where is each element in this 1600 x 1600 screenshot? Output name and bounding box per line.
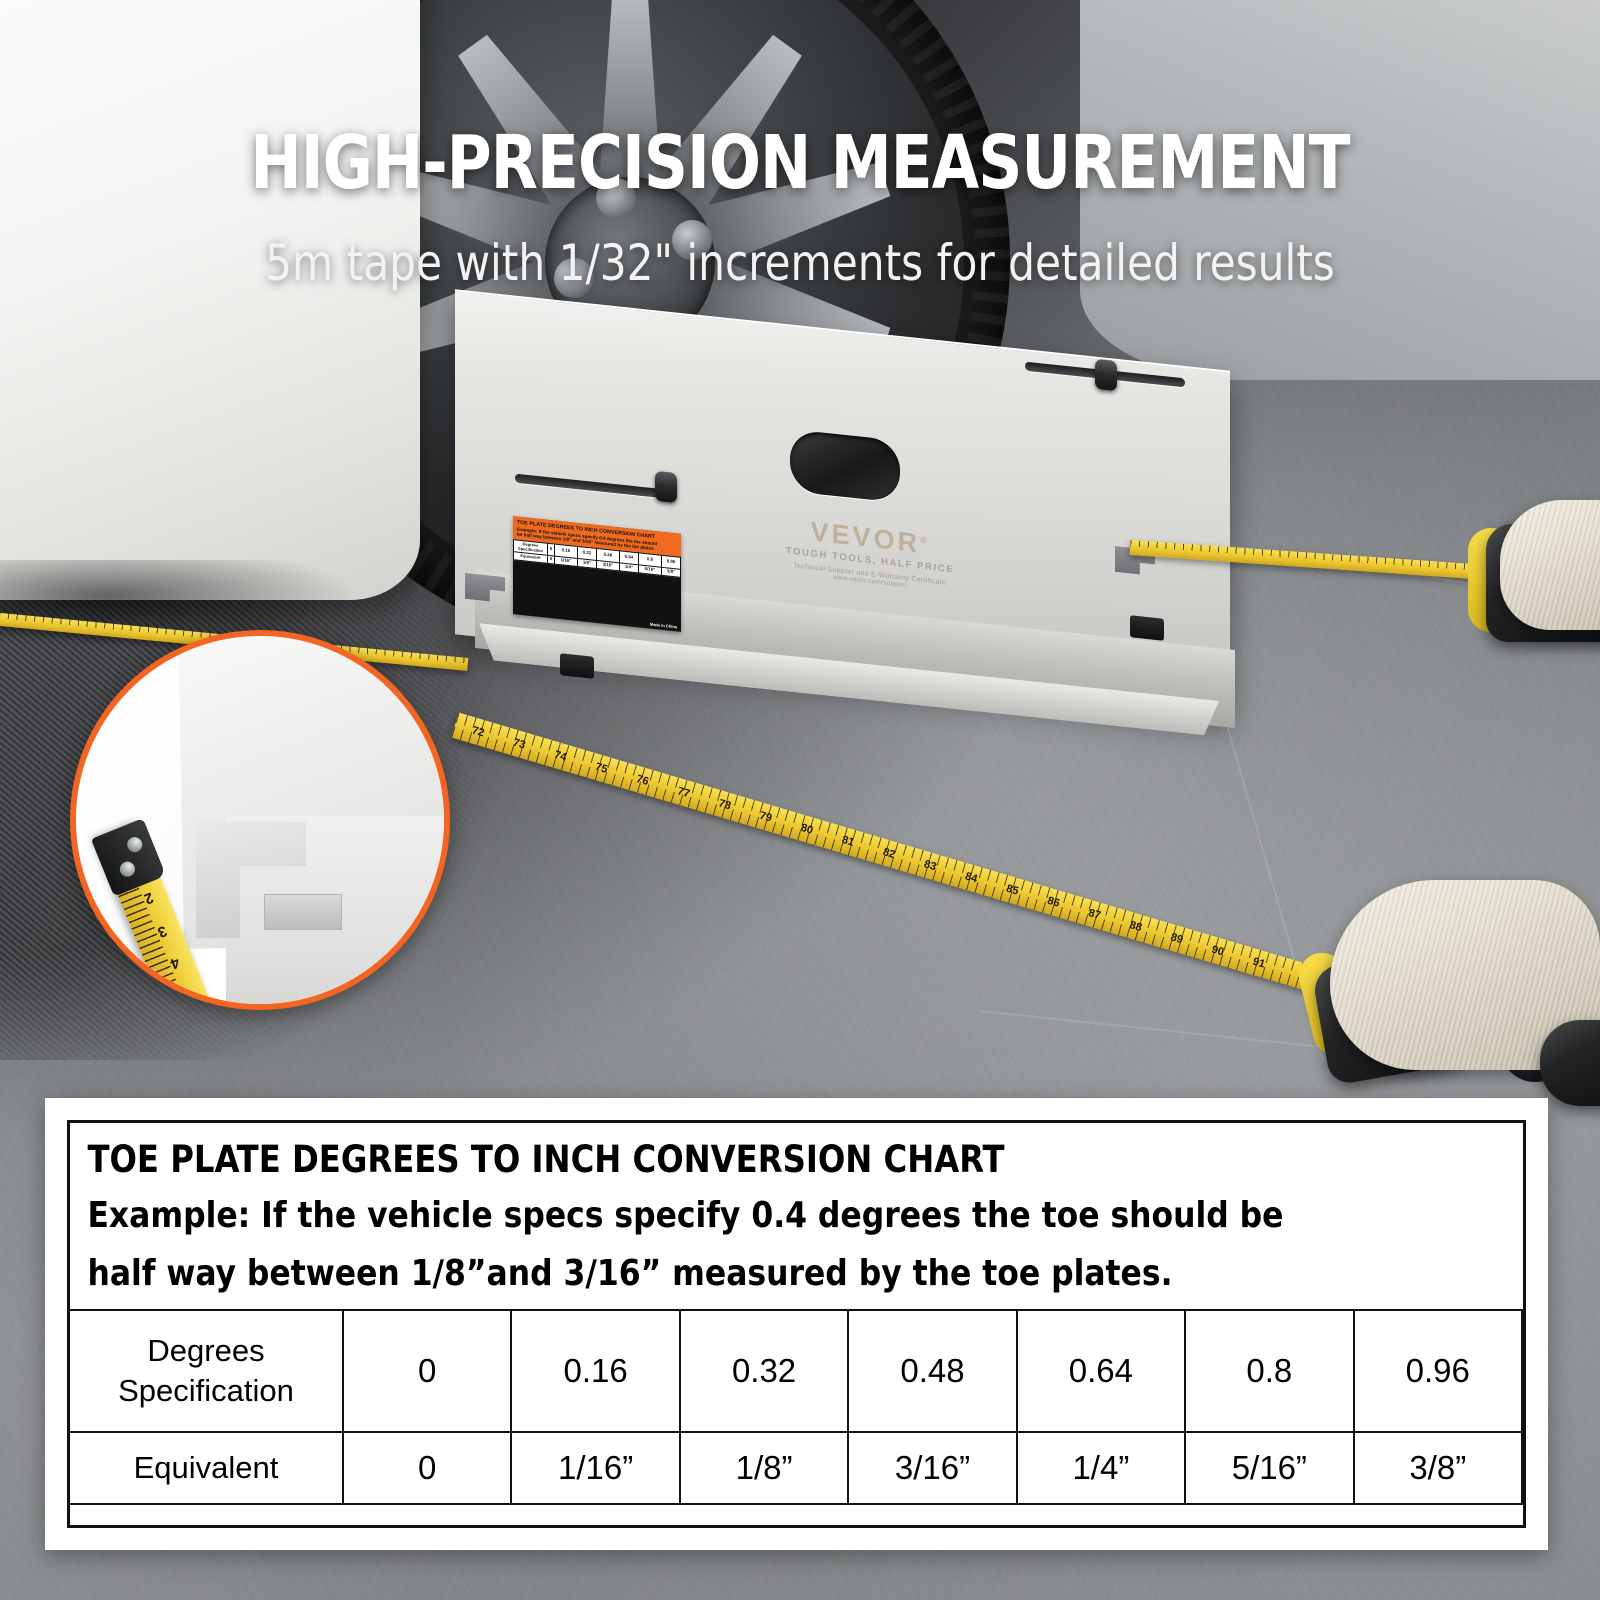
equivalent-cell: 3/8” — [1354, 1432, 1522, 1504]
table-row-degrees: Degrees Specification 0 0.16 0.32 0.48 0… — [70, 1310, 1522, 1432]
tape-hook-rivet — [125, 835, 145, 855]
row-label-degrees-line1: Degrees — [72, 1331, 340, 1371]
tape-measure-number: 88 — [1128, 919, 1143, 934]
page-subtitle: 5m tape with 1/32" increments for detail… — [48, 238, 1552, 288]
row-label-degrees: Degrees Specification — [70, 1310, 343, 1432]
tape-measure-number: 74 — [553, 749, 568, 764]
tape-measure-number: 86 — [1046, 895, 1061, 910]
tape-measure-number: 81 — [840, 834, 855, 849]
conversion-chart-panel: TOE PLATE DEGREES TO INCH CONVERSION CHA… — [45, 1098, 1548, 1550]
registered-mark: ® — [920, 535, 930, 546]
degrees-cell: 0.64 — [1017, 1310, 1185, 1432]
sticker-cell: 1/8" — [577, 559, 596, 569]
row-label-equivalent: Equivalent — [70, 1432, 343, 1504]
equivalent-cell: 1/16” — [511, 1432, 679, 1504]
conversion-chart-border: TOE PLATE DEGREES TO INCH CONVERSION CHA… — [67, 1120, 1526, 1528]
detail-callout-circle: 2 3 4 5 6 7 — [70, 630, 450, 1010]
degrees-cell: 0.16 — [511, 1310, 679, 1432]
tape-measure-number: 83 — [923, 858, 938, 873]
sticker-cell: 3/16" — [596, 561, 619, 571]
adjustment-knob[interactable] — [1095, 359, 1117, 391]
tape-measure-number: 77 — [676, 785, 691, 800]
gloved-hand-upper — [1500, 500, 1600, 630]
table-row-equivalent: Equivalent 0 1/16” 1/8” 3/16” 1/4” 5/16”… — [70, 1432, 1522, 1504]
equivalent-cell: 0 — [343, 1432, 511, 1504]
degrees-cell: 0.96 — [1354, 1310, 1522, 1432]
conversion-chart-sticker: TOE PLATE DEGREES TO INCH CONVERSION CHA… — [513, 516, 681, 632]
tape-measure-number: 91 — [1251, 956, 1266, 971]
row-label-degrees-line2: Specification — [72, 1371, 340, 1411]
plate-clip — [1130, 615, 1164, 641]
tape-measure-number: 78 — [717, 797, 732, 812]
tape-measure-number: 87 — [1087, 907, 1102, 922]
chart-example-line-1: Example: If the vehicle specs specify 0.… — [70, 1185, 1479, 1243]
tape-measure-number: 79 — [758, 810, 773, 825]
tape-measure-number: 82 — [881, 846, 896, 861]
equivalent-cell: 5/16” — [1185, 1432, 1353, 1504]
tape-measure-number: 75 — [594, 761, 609, 776]
tape-measure-number: 76 — [635, 773, 650, 788]
plate-clip — [560, 653, 594, 679]
page-title: HIGH-PRECISION MEASUREMENT — [64, 128, 1536, 199]
adjustment-knob[interactable] — [655, 471, 677, 503]
toe-plate: TOE PLATE DEGREES TO INCH CONVERSION CHA… — [455, 310, 1245, 910]
tape-measure-number: 80 — [799, 822, 814, 837]
tape-measure-number: 72 — [471, 724, 486, 739]
product-marketing-image: TOE PLATE DEGREES TO INCH CONVERSION CHA… — [0, 0, 1600, 1600]
tape-measure-number: 90 — [1210, 943, 1225, 958]
tape-measure-number: 84 — [964, 870, 979, 885]
sticker-origin-text: Made In China — [650, 622, 677, 630]
tape-measure-number: 89 — [1169, 931, 1184, 946]
degrees-cell: 0.32 — [680, 1310, 848, 1432]
inset-plate-slot — [264, 894, 342, 930]
degrees-cell: 0.48 — [848, 1310, 1016, 1432]
sticker-cell: 0 — [548, 556, 555, 565]
equivalent-cell: 3/16” — [848, 1432, 1016, 1504]
chart-example-line-2: half way between 1/8”and 3/16” measured … — [70, 1243, 1479, 1301]
sticker-cell: 0 — [548, 544, 555, 557]
chart-title: TOE PLATE DEGREES TO INCH CONVERSION CHA… — [70, 1123, 1479, 1185]
tape-measure-number: 73 — [512, 737, 527, 752]
sticker-cell: 1/4" — [619, 563, 638, 573]
equivalent-cell: 1/8” — [680, 1432, 848, 1504]
degrees-cell: 0.8 — [1185, 1310, 1353, 1432]
conversion-table: Degrees Specification 0 0.16 0.32 0.48 0… — [70, 1309, 1523, 1505]
degrees-cell: 0 — [343, 1310, 511, 1432]
tape-measure-number: 85 — [1005, 883, 1020, 898]
glove-knit-texture — [1500, 500, 1600, 630]
tape-hook-rivet — [118, 859, 138, 879]
equivalent-cell: 1/4” — [1017, 1432, 1185, 1504]
sticker-cell: 5/16" — [638, 565, 661, 575]
sticker-cell: 1/16" — [554, 556, 577, 566]
car-body-panel — [0, 0, 420, 600]
sticker-cell: 3/8" — [662, 567, 681, 577]
